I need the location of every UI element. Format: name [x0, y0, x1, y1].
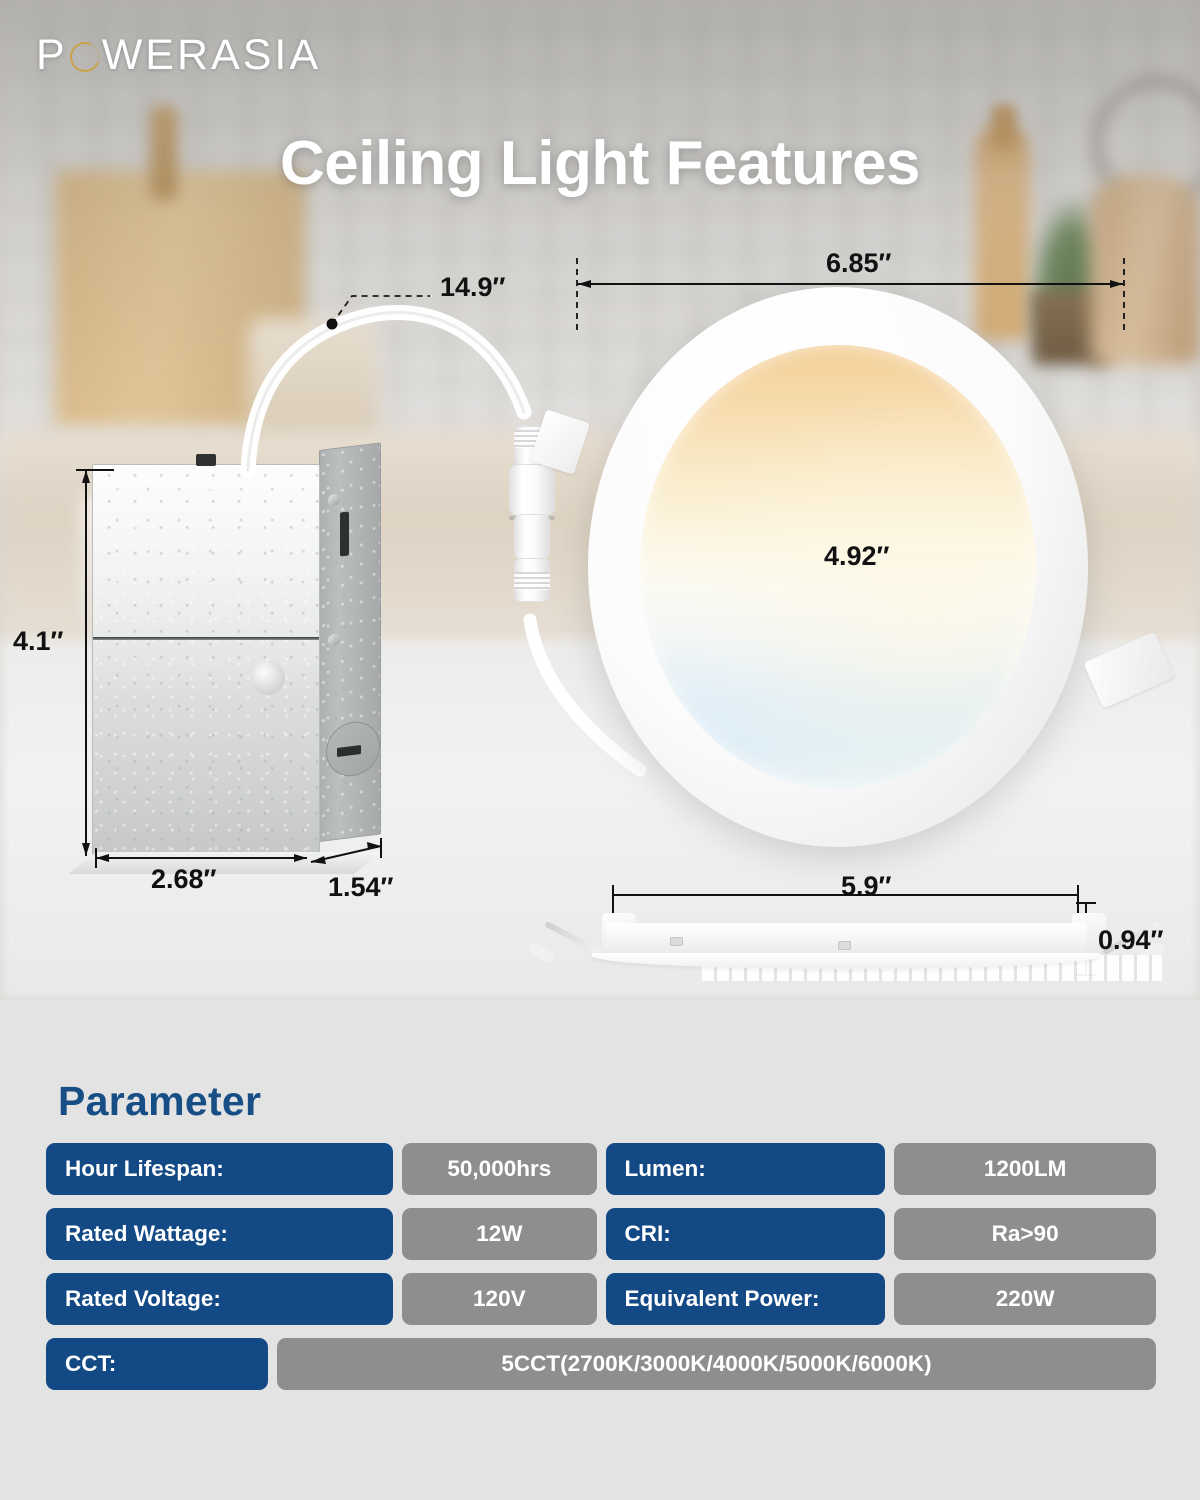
galvanized-texture-front	[93, 465, 319, 855]
dimension-profile-height: 0.94″	[1098, 925, 1163, 956]
dimension-jbox-depth: 1.54″	[328, 872, 393, 903]
param-value: 1200LM	[894, 1143, 1156, 1195]
product-infographic: PWERASIA Ceiling Light Features	[0, 0, 1200, 1500]
param-label: Rated Wattage:	[46, 1208, 393, 1260]
param-label: Hour Lifespan:	[46, 1143, 393, 1195]
page-title: Ceiling Light Features	[0, 128, 1200, 199]
downlight-side-profile	[520, 895, 1180, 990]
junction-box-front-panel	[92, 464, 320, 856]
param-label: Equivalent Power:	[606, 1273, 886, 1325]
param-value: 50,000hrs	[402, 1143, 596, 1195]
junction-box-product	[92, 464, 382, 864]
dimension-cable-length: 14.9″	[440, 272, 505, 303]
spring-arm-tip-left	[527, 941, 557, 965]
param-label: Rated Voltage:	[46, 1273, 393, 1325]
table-row: Rated Wattage: 12W CRI: Ra>90	[46, 1208, 1156, 1260]
table-row: Rated Voltage: 120V Equivalent Power: 22…	[46, 1273, 1156, 1325]
connector-strain-relief	[514, 572, 550, 590]
profile-screw	[838, 941, 851, 950]
parameter-table: Hour Lifespan: 50,000hrs Lumen: 1200LM R…	[46, 1143, 1156, 1403]
ul-stamp-icon	[251, 661, 285, 695]
param-value-cct: 5CCT(2700K/3000K/4000K/5000K/6000K)	[277, 1338, 1156, 1390]
logo-text-prefix: P	[36, 31, 68, 79]
dimension-trim-outer-diameter: 6.85″	[826, 248, 891, 279]
param-value: 120V	[402, 1273, 596, 1325]
param-label: CRI:	[606, 1208, 886, 1260]
dimension-cutout-width: 5.9″	[841, 871, 891, 902]
param-label: Lumen:	[606, 1143, 886, 1195]
mounting-slot	[340, 511, 349, 556]
parameter-heading: Parameter	[58, 1078, 261, 1125]
hero-photo-section: PWERASIA Ceiling Light Features	[0, 0, 1200, 1000]
spring-arm-left	[544, 921, 602, 955]
dimension-jbox-width: 2.68″	[151, 864, 216, 895]
connector-segment	[514, 514, 550, 560]
brand-logo: PWERASIA	[36, 34, 321, 77]
param-value: 220W	[894, 1273, 1156, 1325]
connector-body	[509, 464, 555, 516]
param-value: Ra>90	[894, 1208, 1156, 1260]
param-label-cct: CCT:	[46, 1338, 268, 1390]
cable-entry-tab	[196, 454, 216, 466]
table-row: Hour Lifespan: 50,000hrs Lumen: 1200LM	[46, 1143, 1156, 1195]
dimension-lens-diameter: 4.92″	[824, 541, 889, 572]
logo-ring-icon	[65, 37, 104, 76]
param-value: 12W	[402, 1208, 596, 1260]
table-row-cct: CCT: 5CCT(2700K/3000K/4000K/5000K/6000K)	[46, 1338, 1156, 1390]
dimension-jbox-height: 4.1″	[13, 626, 63, 657]
logo-text-suffix: WERASIA	[102, 31, 321, 79]
profile-screw	[670, 937, 683, 946]
junction-box-base	[68, 852, 382, 874]
